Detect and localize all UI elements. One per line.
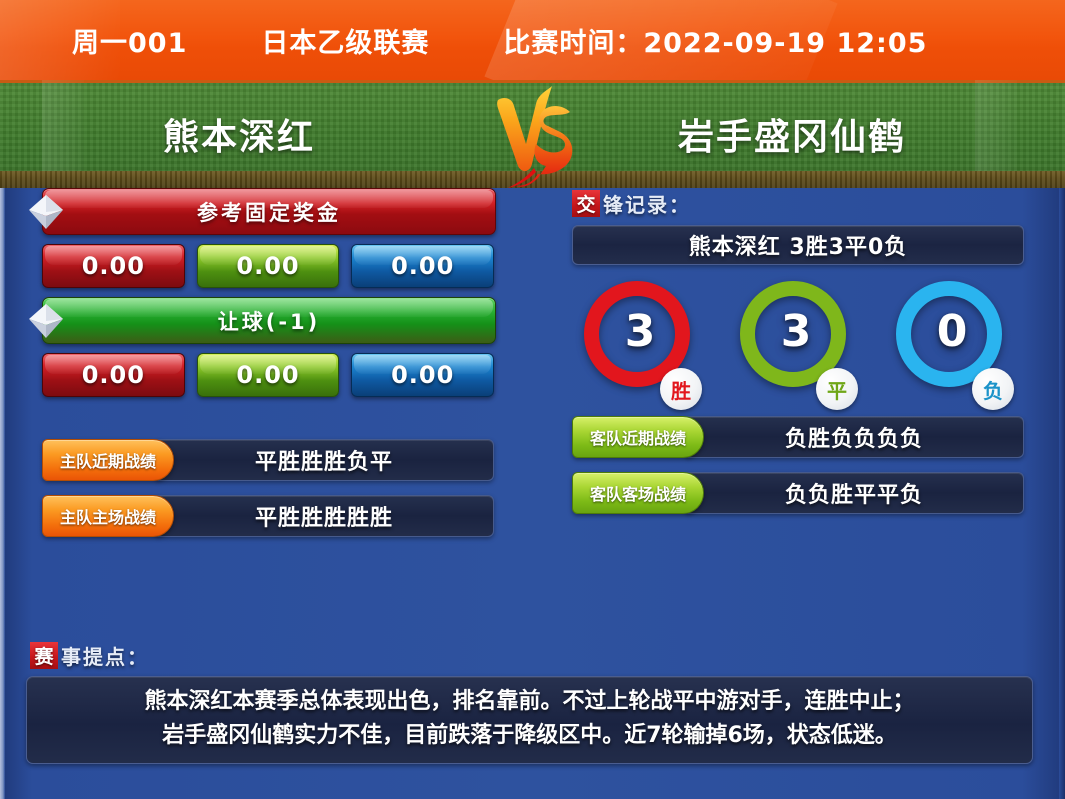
h2h-draw-count: 3 [781, 310, 812, 354]
odds-column: 参考固定奖金 0.00 0.00 0.00 [26, 188, 496, 535]
handicap-odds-draw-button[interactable]: 0.00 [197, 353, 340, 397]
h2h-loss-count: 0 [937, 310, 968, 354]
away-venue-record-bar: 负负胜平平负 [684, 472, 1024, 514]
page-header: 周一001 日本乙级联赛 比赛时间：2022-09-19 12:05 [0, 0, 1065, 80]
match-preview-page: 周一001 日本乙级联赛 比赛时间：2022-09-19 12:05 熊本深红 … [0, 0, 1065, 799]
fixed-odds-title-bar: 参考固定奖金 [42, 188, 496, 235]
analysis-line-2: 岩手盛冈仙鹤实力不佳，目前跌落于降级区中。近7轮输掉6场，状态低迷。 [43, 719, 1016, 753]
h2h-win-count: 3 [625, 310, 656, 354]
away-venue-record-row: 客队客场战绩 负负胜平平负 [572, 472, 1024, 512]
fixed-odds-away-value: 0.00 [391, 252, 454, 280]
league-name-label: 日本乙级联赛 [261, 21, 429, 60]
fixed-odds-draw-value: 0.00 [236, 252, 299, 280]
away-recent-record-row: 客队近期战绩 负胜负负负负 [572, 416, 1024, 456]
analysis-text-box: 熊本深红本赛季总体表现出色，排名靠前。不过上轮战平中游对手，连胜中止； 岩手盛冈… [26, 676, 1033, 764]
handicap-odds-away-value: 0.00 [391, 361, 454, 389]
h2h-section-label: 交 锋记录： [572, 188, 1026, 218]
diamond-icon [25, 191, 67, 233]
fixed-odds-title-text: 参考固定奖金 [197, 197, 341, 227]
analysis-badge-icon: 赛 [30, 642, 58, 669]
home-recent-record-tag: 主队近期战绩 [42, 439, 174, 481]
away-team-name: 岩手盛冈仙鹤 [678, 108, 906, 160]
h2h-draw-ring-wrap: 3 平 [740, 281, 852, 406]
away-venue-record-value: 负负胜平平负 [785, 477, 923, 509]
handicap-odds-draw-value: 0.00 [236, 361, 299, 389]
analysis-label-text: 事提点： [61, 641, 149, 670]
handicap-odds-row: 0.00 0.00 0.00 [42, 353, 494, 397]
away-venue-record-tag: 客队客场战绩 [572, 472, 704, 514]
vs-flame-icon [478, 82, 598, 192]
analysis-section-label: 赛 事提点： [30, 640, 1039, 670]
fixed-odds-home-button[interactable]: 0.00 [42, 244, 185, 288]
away-recent-record-bar: 负胜负负负负 [684, 416, 1024, 458]
home-team-name: 熊本深红 [163, 108, 315, 160]
h2h-summary-bar: 熊本深红 3胜3平0负 [572, 225, 1024, 265]
home-venue-record-tag: 主队主场战绩 [42, 495, 174, 537]
home-venue-record-value: 平胜胜胜胜胜 [255, 500, 393, 532]
analysis-line-1: 熊本深红本赛季总体表现出色，排名靠前。不过上轮战平中游对手，连胜中止； [43, 685, 1016, 719]
h2h-loss-badge: 负 [972, 368, 1014, 410]
fixed-odds-home-value: 0.00 [82, 252, 145, 280]
fixed-odds-row: 0.00 0.00 0.00 [42, 244, 494, 288]
h2h-label-text: 锋记录： [603, 189, 691, 218]
h2h-win-badge: 胜 [660, 368, 702, 410]
handicap-odds-home-button[interactable]: 0.00 [42, 353, 185, 397]
h2h-column: 交 锋记录： 熊本深红 3胜3平0负 3 胜 3 平 [556, 188, 1026, 512]
home-recent-record-row: 主队近期战绩 平胜胜胜负平 [42, 439, 494, 479]
diamond-icon [25, 300, 67, 342]
h2h-loss-ring-wrap: 0 负 [896, 281, 1008, 406]
handicap-title-text: 让球(-1) [218, 306, 321, 336]
main-content: 参考固定奖金 0.00 0.00 0.00 [0, 188, 1065, 799]
handicap-title-bar: 让球(-1) [42, 297, 496, 344]
h2h-rings: 3 胜 3 平 0 负 [572, 281, 1024, 416]
fixed-odds-away-button[interactable]: 0.00 [351, 244, 494, 288]
match-time-label: 比赛时间：2022-09-19 12:05 [503, 21, 927, 60]
handicap-odds-away-button[interactable]: 0.00 [351, 353, 494, 397]
home-venue-record-bar: 平胜胜胜胜胜 [154, 495, 494, 537]
h2h-badge-icon: 交 [572, 190, 600, 217]
handicap-odds-home-value: 0.00 [82, 361, 145, 389]
analysis-section: 赛 事提点： 熊本深红本赛季总体表现出色，排名靠前。不过上轮战平中游对手，连胜中… [26, 640, 1039, 764]
h2h-draw-badge: 平 [816, 368, 858, 410]
h2h-win-ring-wrap: 3 胜 [584, 281, 696, 406]
fixed-odds-draw-button[interactable]: 0.00 [197, 244, 340, 288]
header-row: 周一001 日本乙级联赛 比赛时间：2022-09-19 12:05 [0, 0, 1065, 80]
away-recent-record-value: 负胜负负负负 [785, 421, 923, 453]
match-round-label: 周一001 [72, 21, 187, 60]
away-recent-record-tag: 客队近期战绩 [572, 416, 704, 458]
home-recent-record-bar: 平胜胜胜负平 [154, 439, 494, 481]
home-recent-record-value: 平胜胜胜负平 [255, 444, 393, 476]
h2h-summary-text: 熊本深红 3胜3平0负 [689, 229, 908, 261]
home-venue-record-row: 主队主场战绩 平胜胜胜胜胜 [42, 495, 494, 535]
